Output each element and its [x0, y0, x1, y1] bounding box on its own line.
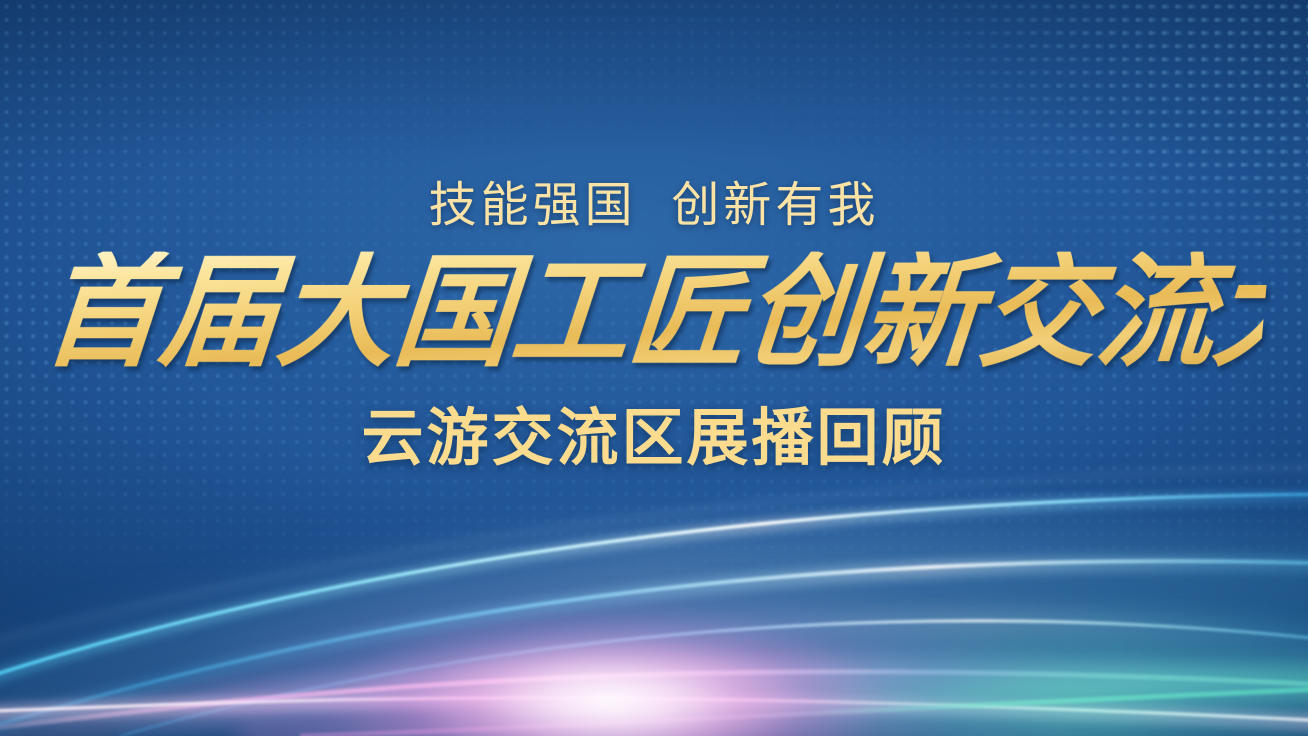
poster-subline: 云游交流区展播回顾 — [361, 408, 946, 470]
poster-text-block: 技能强国 创新有我 首届大国工匠创新交流大会 云游交流区展播回顾 — [0, 0, 1308, 736]
poster-headline: 首届大国工匠创新交流大会 — [39, 252, 1270, 377]
poster-canvas: 技能强国 创新有我 首届大国工匠创新交流大会 云游交流区展播回顾 — [0, 0, 1308, 736]
poster-kicker: 技能强国 创新有我 — [429, 182, 880, 230]
